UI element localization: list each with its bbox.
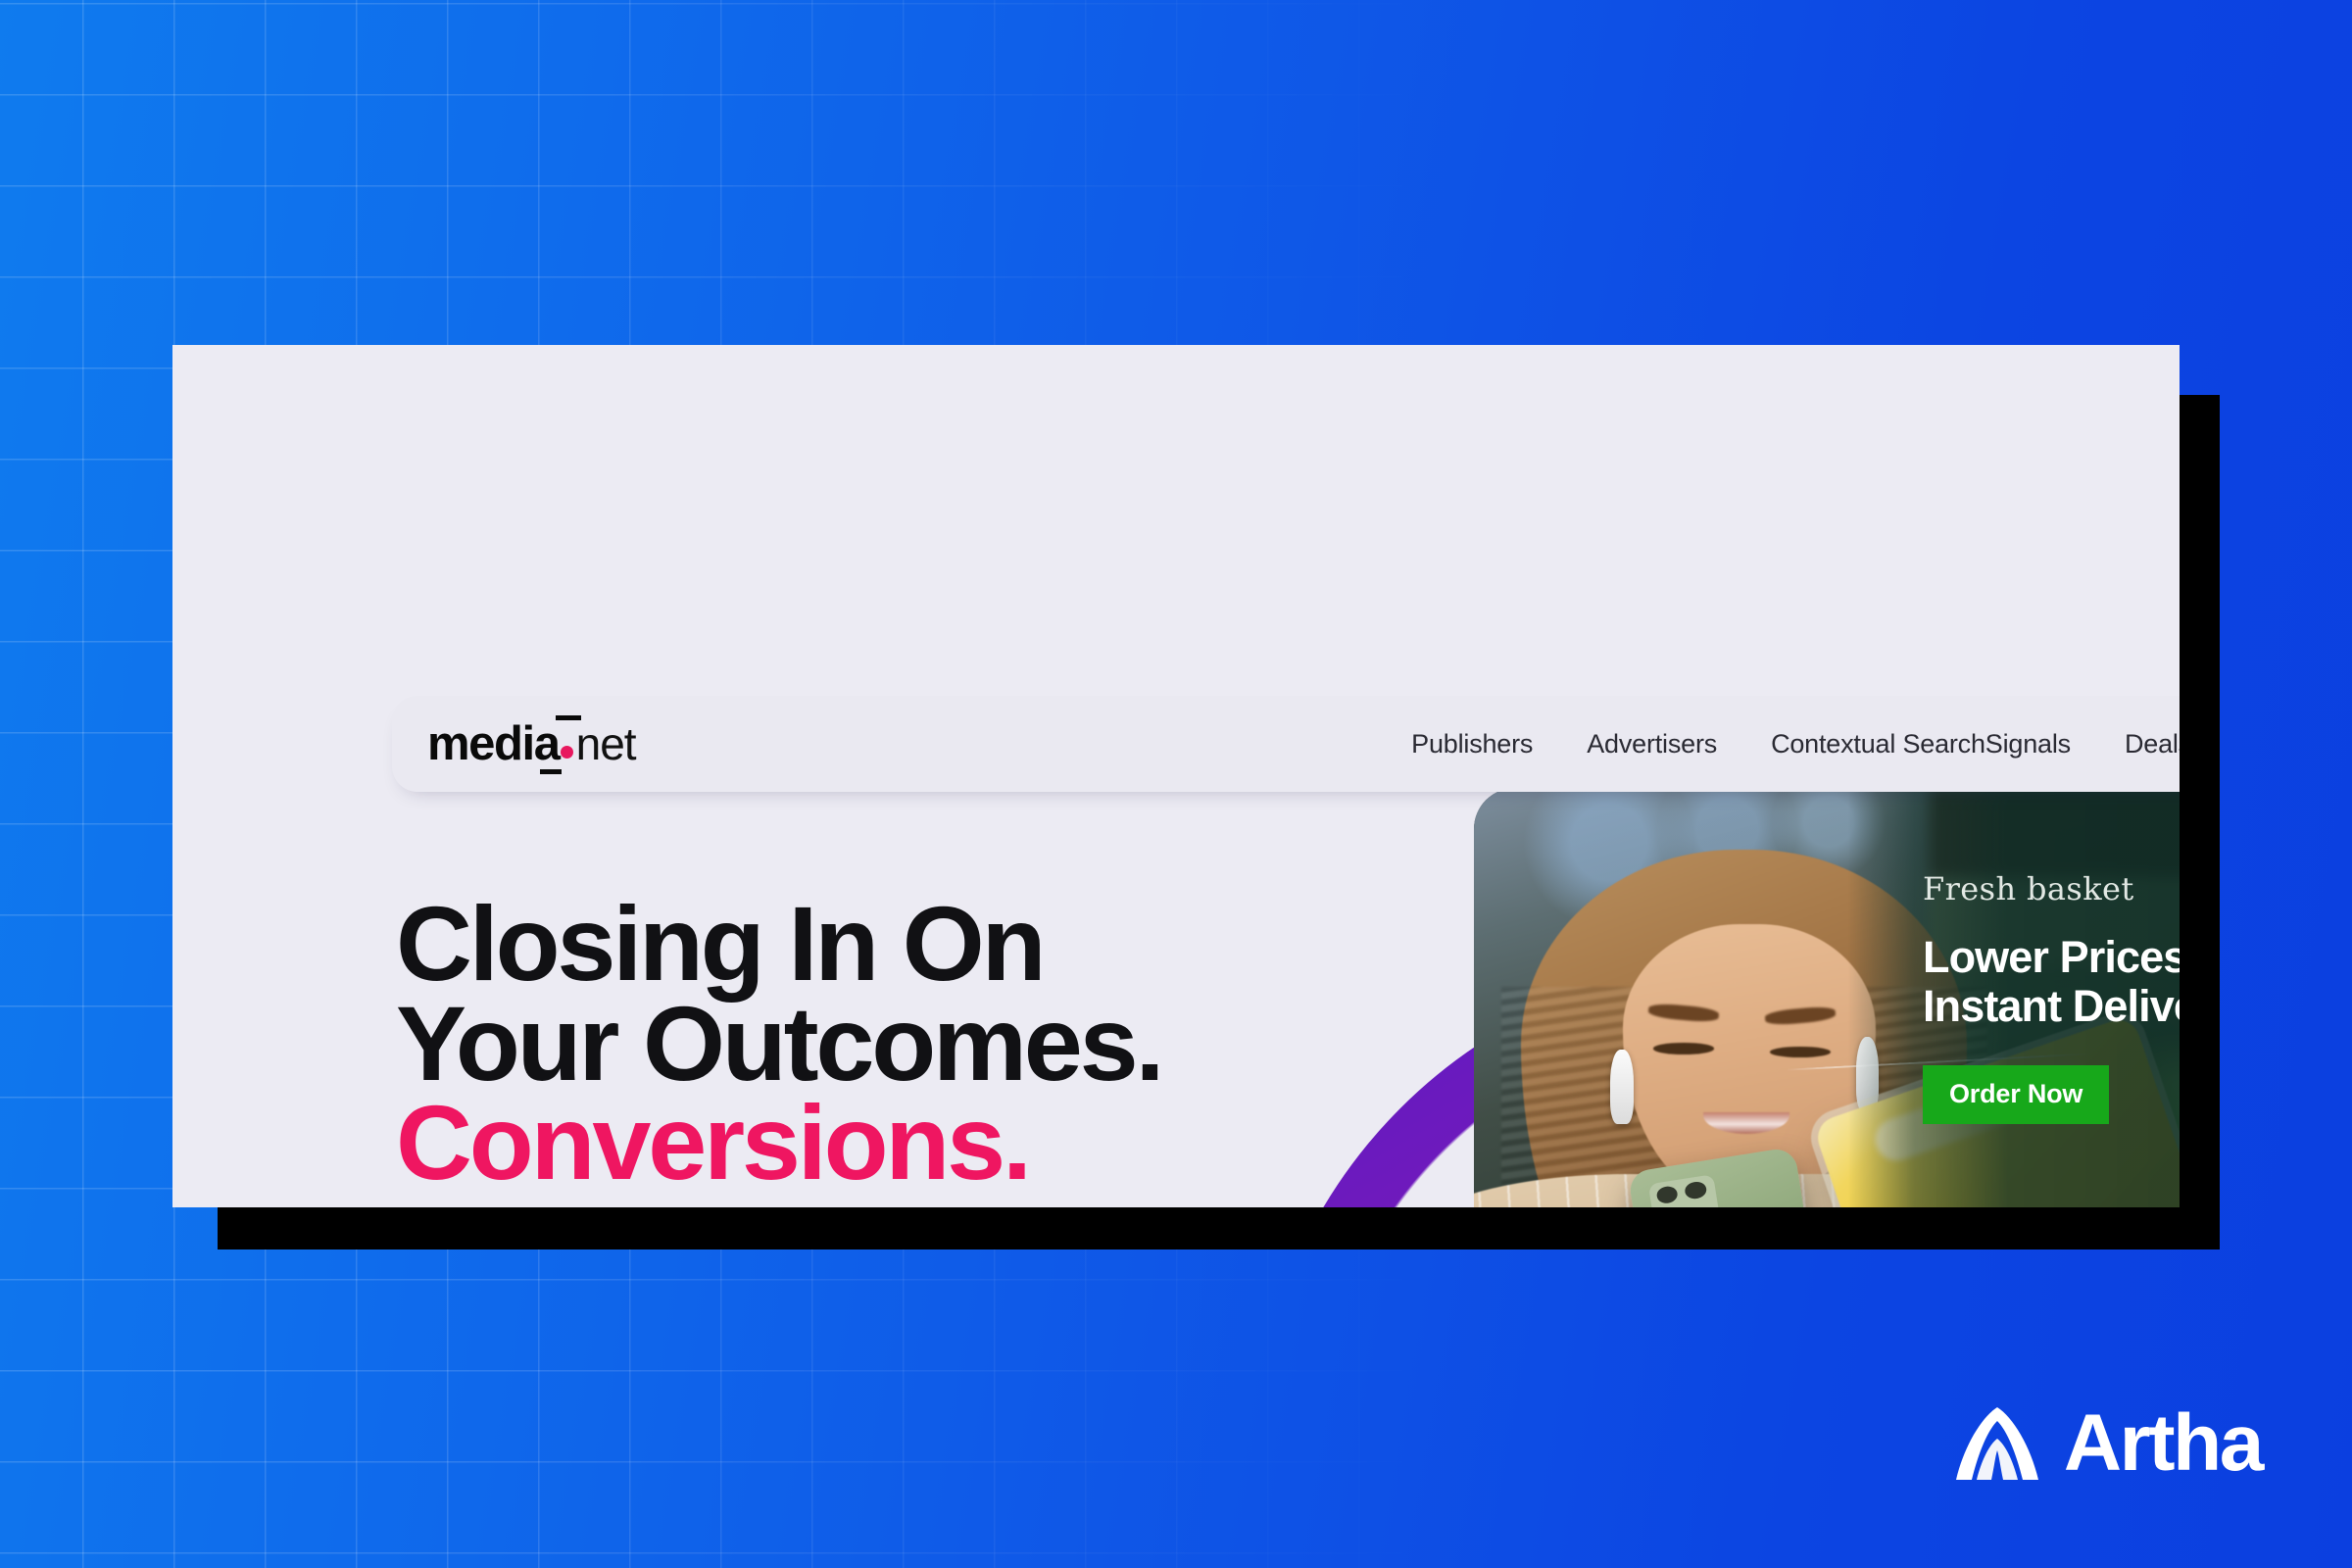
nav-item-advertisers[interactable]: Advertisers — [1587, 729, 1717, 759]
nav-links: Publishers Advertisers Contextual Search… — [1411, 729, 2180, 759]
photo-earbud-left — [1610, 1050, 1634, 1124]
medianet-logo[interactable]: media net — [427, 720, 636, 768]
photo-woman-eye-left — [1653, 1043, 1714, 1053]
nav-item-contextual-searchsignals[interactable]: Contextual SearchSignals — [1771, 729, 2071, 759]
site-navigation-bar: media net Publishers Advertisers Context… — [392, 696, 2180, 792]
artha-logo: Artha — [1952, 1403, 2262, 1484]
ad-headline-line-2: Instant Delivery — [1923, 982, 2180, 1031]
hero-headline: Closing In On Your Outcomes. Conversions… — [396, 894, 1161, 1193]
ad-creative-overlay: Fresh basket Lower Prices Instant Delive… — [1848, 788, 2180, 1207]
nav-item-publishers[interactable]: Publishers — [1411, 729, 1533, 759]
nav-item-deals-desk[interactable]: Deals Desk — [2125, 729, 2180, 759]
ad-headline: Lower Prices Instant Delivery — [1923, 933, 2180, 1032]
website-preview-card: Fresh basket Lower Prices Instant Delive… — [172, 345, 2180, 1207]
ad-creative-content: Fresh basket Lower Prices Instant Delive… — [1923, 870, 2180, 1124]
logo-accent-underbar — [540, 769, 562, 774]
artha-wordmark: Artha — [2064, 1403, 2262, 1484]
hero-photo-shopper: Fresh basket Lower Prices Instant Delive… — [1474, 788, 2180, 1207]
logo-accent-bar — [556, 715, 581, 720]
artha-arch-icon — [1952, 1403, 2042, 1484]
ad-headline-line-1: Lower Prices — [1923, 933, 2180, 982]
photo-woman-eye-right — [1770, 1047, 1831, 1057]
headline-line-2: Your Outcomes. — [396, 994, 1161, 1094]
headline-line-1: Closing In On — [396, 894, 1161, 994]
headline-line-3-accent: Conversions. — [396, 1093, 1161, 1193]
order-now-button[interactable]: Order Now — [1923, 1065, 2109, 1124]
camera-lens-icon — [1656, 1185, 1680, 1204]
ad-brand-name: Fresh basket — [1923, 870, 2180, 907]
logo-dot-icon — [561, 746, 573, 759]
logo-text-net: net — [576, 721, 636, 766]
logo-text-media: media — [427, 720, 560, 768]
